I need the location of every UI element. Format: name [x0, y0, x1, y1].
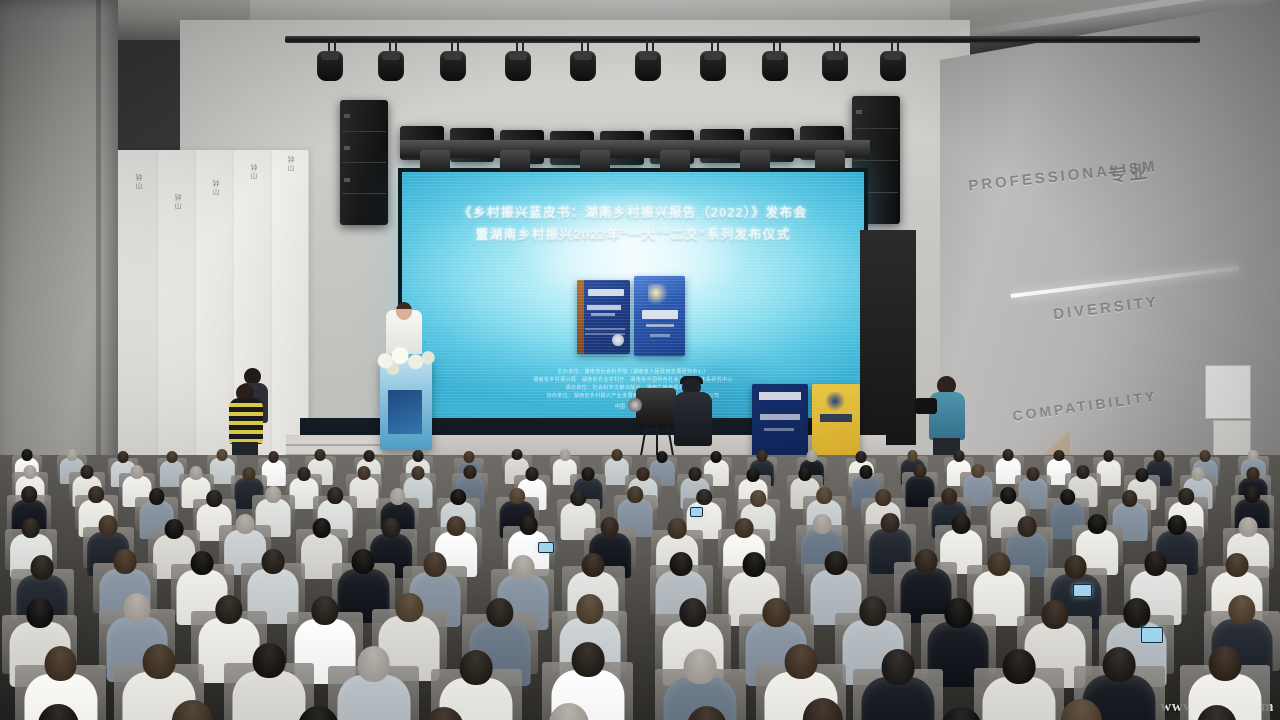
audience-member-head — [824, 551, 847, 576]
bar-fixture — [580, 150, 610, 172]
audience-member-head — [67, 449, 78, 461]
audience-member-head — [1228, 595, 1255, 624]
audience-member-head — [611, 449, 622, 461]
audience-member-head — [143, 644, 176, 679]
audience-member-head — [1144, 551, 1167, 576]
audience-member-head — [1191, 467, 1204, 481]
audience-member-head — [1103, 647, 1136, 682]
audience-member-head — [113, 549, 136, 574]
audience-member-head — [44, 646, 77, 681]
audience-member-head — [1053, 450, 1064, 462]
audience-member-head — [813, 514, 832, 534]
audience-member-head — [600, 517, 619, 537]
audience-member-head — [1178, 488, 1194, 505]
raised-phone — [1073, 584, 1092, 598]
audience-member-head — [235, 514, 254, 534]
audience-member-head — [785, 644, 818, 679]
audience-member-head — [149, 488, 165, 505]
audience-member-head — [875, 489, 891, 506]
audience-member-head — [627, 486, 643, 503]
audience-member-head — [191, 551, 214, 576]
audience-member-head — [756, 450, 767, 462]
audience-member-head — [750, 490, 766, 507]
audience-member-head — [697, 489, 713, 506]
audience-member-head — [511, 555, 534, 580]
audience-member-head — [571, 490, 587, 507]
audience-member-head — [763, 598, 790, 627]
audience-member-head — [24, 465, 37, 479]
audience-member-head — [1248, 450, 1259, 462]
audience-member-head — [21, 449, 32, 461]
audience-member-head — [1123, 598, 1150, 627]
audience-member-head — [942, 488, 958, 505]
lighting-truss — [285, 36, 1200, 43]
audience-member-head — [460, 650, 493, 685]
wall-notice-plate — [1205, 365, 1251, 419]
wall-panel-label: 钟山 — [172, 194, 182, 210]
audience-member-head — [312, 518, 331, 538]
lectern-front-panel — [388, 390, 422, 434]
audience-member-head — [734, 518, 753, 538]
audience-member-head — [907, 450, 918, 462]
line-array-speaker — [340, 100, 388, 225]
audience-member-head — [131, 465, 144, 479]
audience-member-head — [582, 553, 605, 578]
audience-member-head — [1076, 465, 1089, 479]
audience-member-head — [357, 646, 390, 681]
audience-member-head — [1247, 467, 1260, 481]
audience-member-head — [1209, 646, 1242, 681]
wall-word-professionalism-cn: 专业 — [1107, 158, 1151, 188]
audience-member-head — [806, 450, 817, 462]
audience-member-head — [581, 467, 594, 481]
audience-member-head — [21, 518, 40, 538]
audience-member-head — [21, 486, 37, 503]
audience-member-head — [463, 465, 476, 479]
audience-member-head — [746, 468, 759, 482]
audience-member-head — [743, 552, 766, 577]
audience-member-head — [1226, 553, 1249, 578]
audience-member-head — [1017, 516, 1036, 536]
audience-member-head — [881, 513, 900, 533]
bar-fixture — [740, 150, 770, 172]
audience-member-head — [952, 514, 971, 534]
audience-member-head — [1003, 649, 1036, 684]
overhead-light-bar — [400, 140, 870, 158]
audience-member-head — [1245, 486, 1261, 503]
audience-member-head — [987, 552, 1010, 577]
audience-member-head — [1122, 490, 1138, 507]
raised-phone — [1141, 627, 1163, 643]
audience-member-head — [311, 596, 338, 625]
audience-member-head — [217, 449, 228, 461]
audience-member-head — [390, 488, 406, 505]
audience-member-head — [464, 451, 475, 463]
audience-member-head — [689, 467, 702, 481]
audience-member-head — [1088, 514, 1107, 534]
audience-member-head — [88, 486, 104, 503]
audience-member-head — [859, 596, 886, 625]
wall-panel-label: 钟山 — [285, 156, 295, 172]
audience-member-head — [262, 549, 285, 574]
audience-member-head — [253, 643, 286, 678]
audience-member-head — [1060, 489, 1076, 506]
audience-member-head — [526, 467, 539, 481]
audience-member-head — [315, 449, 326, 461]
audience-member-head — [352, 549, 375, 574]
audience-seating — [0, 440, 1280, 720]
audience-member-head — [510, 488, 526, 505]
audience-member-head — [859, 465, 872, 479]
raised-phone — [538, 542, 554, 554]
audience-member-head — [266, 486, 282, 503]
audience-member-head — [327, 487, 343, 504]
audience-member-head — [711, 451, 722, 463]
audience-member-head — [1154, 450, 1165, 462]
bar-fixture — [420, 150, 450, 172]
audience-member-head — [268, 451, 279, 463]
audience-member-head — [670, 552, 693, 577]
audience-member-head — [412, 450, 423, 462]
audience-member-head — [512, 449, 523, 461]
audience-member-head — [297, 467, 310, 481]
bar-fixture — [500, 150, 530, 172]
audience-member-head — [1168, 515, 1187, 535]
wall-panel-label: 钟山 — [133, 174, 143, 190]
raised-phone — [690, 507, 704, 517]
audience-member-head — [1135, 468, 1148, 482]
audience-member-torso — [232, 671, 305, 720]
audience-member-head — [358, 466, 371, 480]
audience-member-head — [424, 552, 447, 577]
photo-canvas: 钟山 钟山 钟山 钟山 钟山 PROFESSIONALISM 专业 DIVERS… — [0, 0, 1280, 720]
audience-member-head — [166, 451, 177, 463]
audience-member-head — [1239, 517, 1258, 537]
audience-member-head — [123, 593, 150, 622]
wall-panel-label: 钟山 — [210, 180, 220, 196]
audience-member-head — [576, 594, 603, 623]
audience-member-head — [798, 467, 811, 481]
audience-member-head — [636, 467, 649, 481]
audience-member-head — [684, 649, 717, 684]
audience-member-head — [411, 466, 424, 480]
audience-member-head — [882, 649, 915, 684]
audience-member-head — [26, 598, 53, 627]
audience-member-head — [190, 466, 203, 480]
audience-member-head — [215, 595, 242, 624]
podium-speaker-head — [396, 302, 412, 320]
audience-member-head — [914, 549, 937, 574]
audience-member-head — [1041, 600, 1068, 629]
audience-member-head — [1064, 555, 1087, 580]
audience-member-head — [679, 598, 706, 627]
audience-member-head — [450, 489, 466, 506]
bar-fixture — [815, 150, 845, 172]
wall-panel-label: 钟山 — [248, 164, 258, 180]
audience-member-head — [945, 598, 972, 627]
audience-member-head — [954, 450, 965, 462]
audience-member-head — [971, 464, 984, 478]
audience-member-head — [80, 465, 93, 479]
audience-member-head — [1027, 467, 1040, 481]
audience-member-head — [242, 467, 255, 481]
audience-member-head — [559, 449, 570, 461]
audience-member-head — [816, 487, 832, 504]
audience-member-head — [1103, 450, 1114, 462]
audience-member-head — [118, 451, 129, 463]
audience-member-head — [31, 555, 54, 580]
audience-member-head — [657, 451, 668, 463]
audience-member-head — [1200, 450, 1211, 462]
audience-member-head — [668, 518, 687, 538]
audience-member-head — [165, 519, 184, 539]
audience-member-head — [364, 450, 375, 462]
audience-member-head — [99, 515, 118, 535]
audience-member-head — [1001, 487, 1017, 504]
audience-member-head — [487, 598, 514, 627]
audience-member-head — [571, 642, 604, 677]
floral-arrangement — [369, 342, 443, 376]
audience-member-head — [913, 464, 926, 478]
stage-side-flat — [860, 230, 916, 445]
audience-member-head — [206, 490, 222, 507]
audience-member-head — [396, 593, 423, 622]
audience-member-head — [856, 451, 867, 463]
audience-member-head — [447, 516, 466, 536]
audience-member-head — [382, 518, 401, 538]
audience-member-head — [1003, 449, 1014, 461]
audience-member-head — [519, 515, 538, 535]
bar-fixture — [660, 150, 690, 172]
